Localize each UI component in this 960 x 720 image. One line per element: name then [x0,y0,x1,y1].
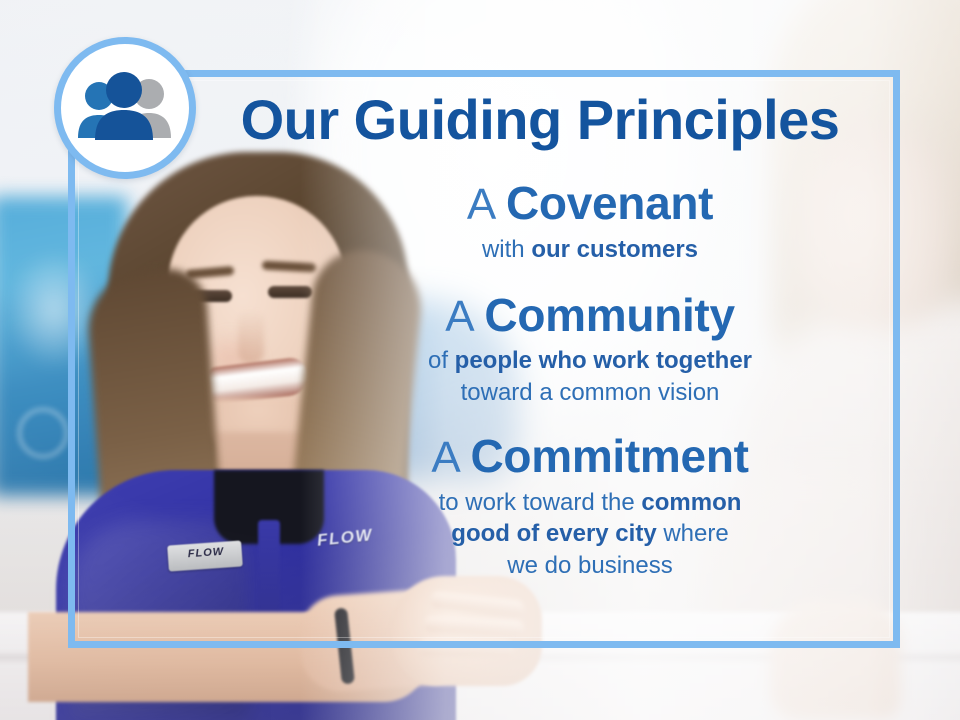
commitment-sub-line1-bold: common [641,489,741,516]
community-sub-line1-bold: people who work together [455,347,752,374]
principle-community-title: A Community [300,292,880,340]
commitment-sub-line2-plain: where [657,520,729,547]
commitment-sub-line3-plain: we do business [507,552,672,579]
principle-community-subtitle: of people who work together toward a com… [300,345,880,408]
community-sub-line1-plain: of [428,347,455,374]
people-group-icon-badge [54,37,196,179]
principle-community-article: A [445,292,484,341]
principle-commitment-article: A [431,433,470,482]
principles-list: A Covenant with our customers A Communit… [300,180,880,582]
principle-covenant-title: A Covenant [300,180,880,228]
principle-covenant-keyword: Covenant [506,177,713,229]
commitment-sub-line1-plain: to work toward the [439,489,642,516]
poster-canvas: FLOW FLOW Our Guiding Principles [0,0,960,720]
principle-covenant-article: A [467,180,506,229]
covenant-sub-line1-plain: with [482,236,531,263]
people-group-icon [73,72,177,144]
commitment-sub-line2-bold: good of every city [451,520,656,547]
covenant-sub-line1-bold: our customers [531,236,698,263]
community-sub-line2-plain: toward a common vision [461,379,720,406]
principle-covenant: A Covenant with our customers [300,180,880,266]
principle-community: A Community of people who work together … [300,292,880,409]
principle-commitment-title: A Commitment [300,433,880,481]
principle-community-keyword: Community [484,289,734,341]
principle-commitment: A Commitment to work toward the common g… [300,433,880,582]
principle-covenant-subtitle: with our customers [300,234,880,266]
page-title: Our Guiding Principles [200,92,880,148]
principle-commitment-keyword: Commitment [471,430,749,482]
principle-commitment-subtitle: to work toward the common good of every … [300,487,880,582]
